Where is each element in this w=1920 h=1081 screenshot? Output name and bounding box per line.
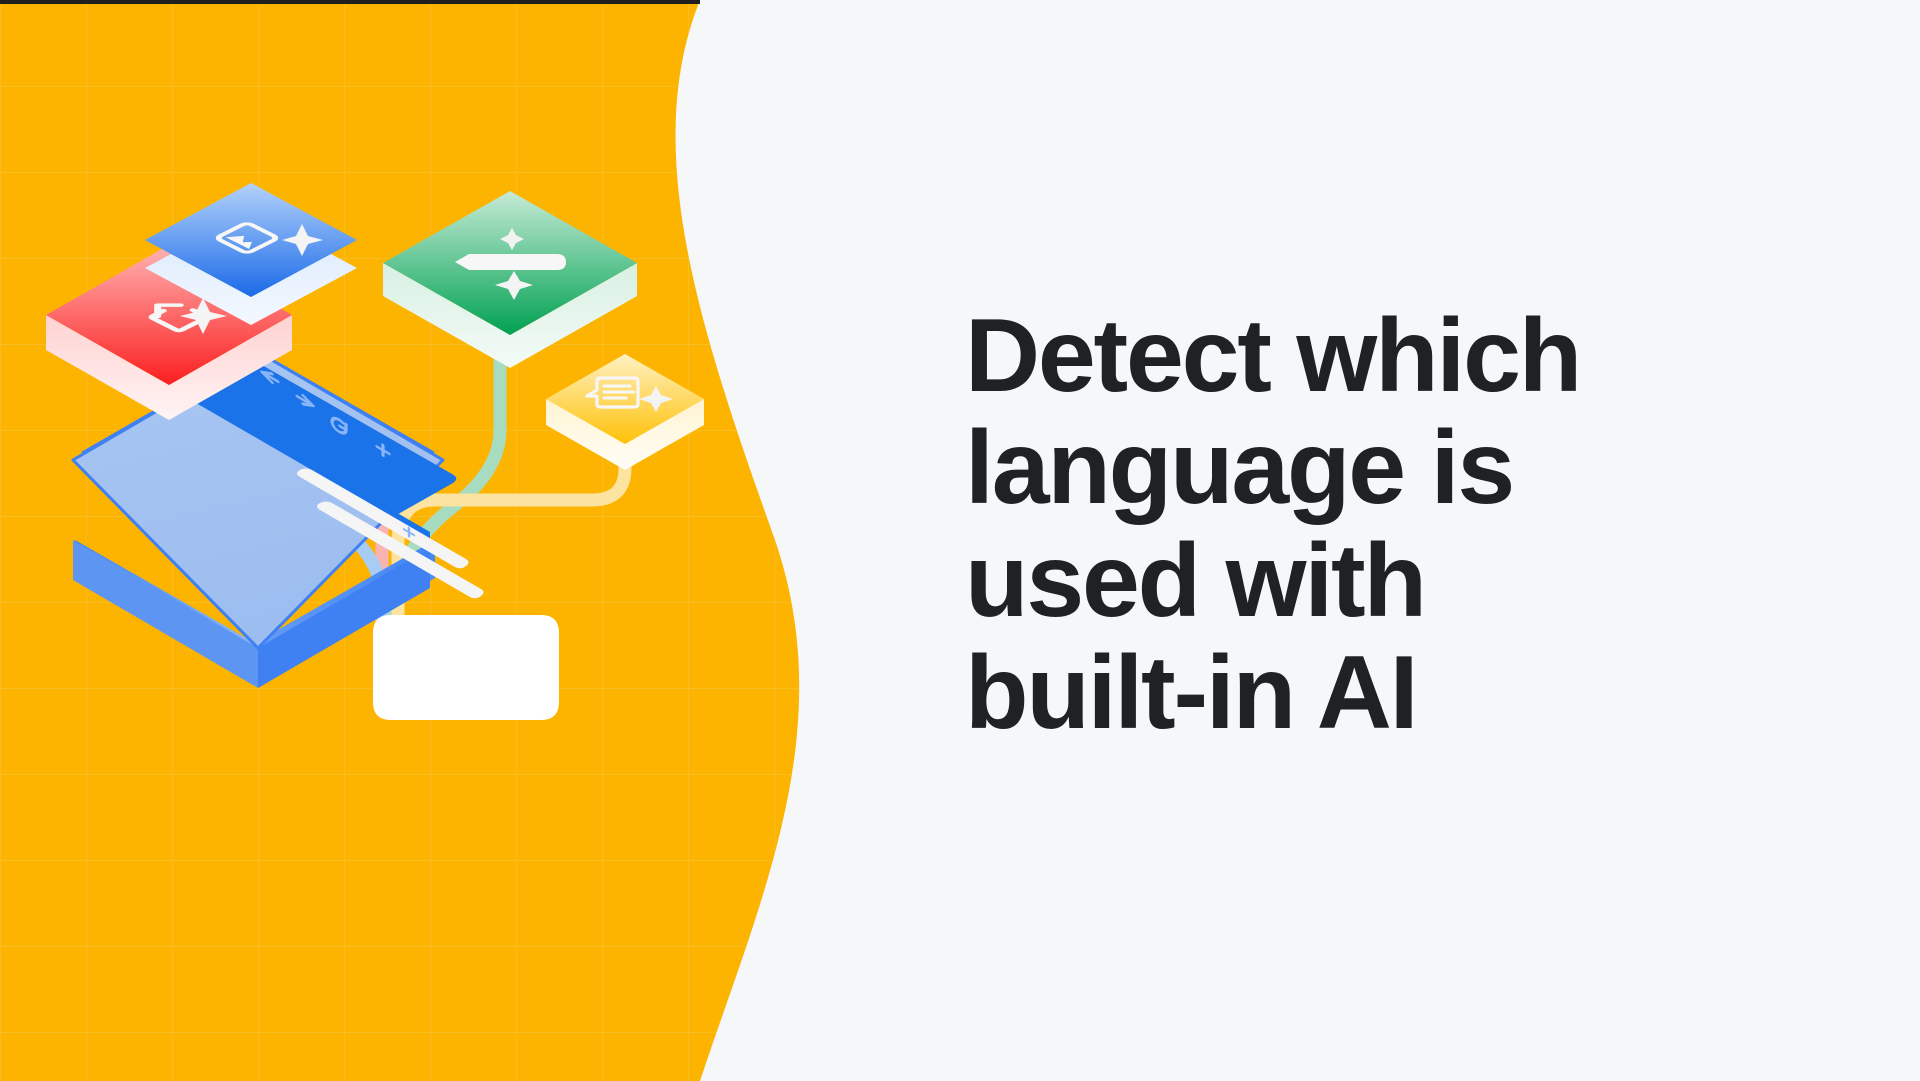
headline-block: Detect which language is used with built…	[965, 300, 1795, 749]
top-hairline	[0, 0, 700, 4]
tile-summarize[interactable]	[546, 354, 704, 470]
illustration	[0, 0, 1010, 1081]
banner-stage: Detect which language is used with built…	[0, 0, 1920, 1081]
result-card	[373, 615, 559, 720]
tile-write[interactable]	[383, 191, 637, 368]
page-title: Detect which language is used with built…	[965, 300, 1795, 749]
